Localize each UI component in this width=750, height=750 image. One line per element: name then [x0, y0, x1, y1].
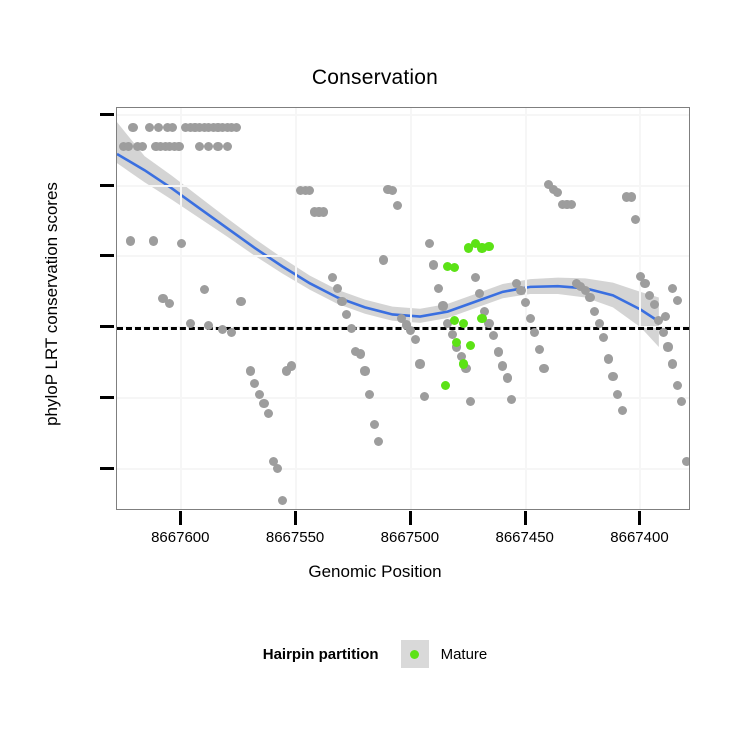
scatter-point — [126, 236, 135, 245]
loess-smooth-layer — [117, 108, 690, 510]
x-tick-label: 8667500 — [355, 529, 465, 546]
scatter-point — [585, 293, 594, 302]
scatter-point — [516, 286, 525, 295]
scatter-point — [618, 406, 627, 415]
scatter-point — [640, 279, 649, 288]
scatter-point — [393, 201, 402, 210]
scatter-point — [195, 142, 204, 151]
scatter-point — [236, 297, 245, 306]
y-tick-mark — [100, 325, 114, 328]
y-axis-label: phyloP LRT conservation scores — [42, 134, 62, 474]
scatter-point — [246, 366, 255, 375]
scatter-point — [213, 142, 222, 151]
gridline-vertical — [180, 108, 182, 509]
scatter-point — [450, 316, 459, 325]
scatter-point — [539, 364, 548, 373]
scatter-point — [459, 359, 468, 368]
scatter-point — [650, 300, 659, 309]
scatter-point — [484, 242, 493, 251]
scatter-point — [608, 372, 617, 381]
scatter-point — [255, 390, 264, 399]
plot-panel — [116, 107, 690, 510]
legend-key-mature[interactable] — [401, 640, 429, 668]
green-dot-icon — [410, 650, 419, 659]
gridline-vertical — [295, 108, 297, 509]
gridline-horizontal — [117, 397, 689, 399]
scatter-point — [200, 285, 209, 294]
scatter-point — [319, 207, 328, 216]
scatter-point — [477, 314, 486, 323]
x-tick-label: 8667400 — [584, 529, 694, 546]
gridline-horizontal — [117, 185, 689, 187]
scatter-point — [604, 354, 613, 363]
scatter-point — [264, 409, 273, 418]
y-tick-mark — [100, 254, 114, 257]
scatter-point — [337, 297, 346, 306]
conservation-plot: Conservation phyloP LRT conservation sco… — [0, 0, 750, 750]
legend: Hairpin partition Mature — [0, 640, 750, 668]
scatter-point — [438, 301, 447, 310]
y-tick-mark — [100, 184, 114, 187]
x-tick-label: 8667550 — [240, 529, 350, 546]
scatter-point — [174, 142, 183, 151]
y-tick-mark — [100, 396, 114, 399]
gridline-vertical — [410, 108, 412, 509]
legend-label-mature: Mature — [441, 646, 488, 663]
scatter-point — [498, 361, 507, 370]
scatter-point — [673, 296, 682, 305]
x-tick-mark — [409, 511, 412, 525]
scatter-point — [441, 381, 450, 390]
scatter-point — [494, 347, 503, 356]
scatter-point — [128, 123, 137, 132]
x-tick-label: 8667450 — [470, 529, 580, 546]
x-tick-mark — [524, 511, 527, 525]
scatter-point — [503, 373, 512, 382]
scatter-point — [145, 123, 154, 132]
scatter-point — [466, 397, 475, 406]
scatter-point — [595, 319, 604, 328]
scatter-point — [360, 366, 369, 375]
scatter-point — [138, 142, 147, 151]
gridline-vertical — [525, 108, 527, 509]
y-tick-mark — [100, 467, 114, 470]
scatter-point — [259, 399, 268, 408]
gridline-horizontal — [117, 114, 689, 116]
x-tick-mark — [294, 511, 297, 525]
scatter-point — [526, 314, 535, 323]
scatter-point — [379, 255, 388, 264]
scatter-point — [333, 284, 342, 293]
scatter-point — [471, 273, 480, 282]
x-tick-mark — [179, 511, 182, 525]
scatter-point — [149, 236, 158, 245]
gridline-vertical — [639, 108, 641, 509]
scatter-point — [124, 142, 133, 151]
x-axis-label: Genomic Position — [0, 562, 750, 582]
scatter-point — [668, 359, 677, 368]
scatter-point — [415, 359, 424, 368]
scatter-point — [567, 200, 576, 209]
legend-title: Hairpin partition — [263, 646, 379, 663]
y-tick-mark — [100, 113, 114, 116]
scatter-point — [347, 324, 356, 333]
scatter-point — [278, 496, 287, 505]
scatter-point — [287, 361, 296, 370]
scatter-point — [365, 390, 374, 399]
gridline-horizontal — [117, 468, 689, 470]
gridline-horizontal — [117, 255, 689, 257]
scatter-point — [673, 381, 682, 390]
x-tick-mark — [638, 511, 641, 525]
page-title: Conservation — [0, 66, 750, 90]
scatter-point — [356, 349, 365, 358]
scatter-point — [627, 192, 636, 201]
scatter-point — [663, 342, 672, 351]
scatter-point — [218, 325, 227, 334]
scatter-point — [429, 260, 438, 269]
scatter-point — [165, 299, 174, 308]
scatter-point — [682, 457, 690, 466]
scatter-point — [434, 284, 443, 293]
scatter-point — [370, 420, 379, 429]
scatter-point — [613, 390, 622, 399]
scatter-point — [223, 142, 232, 151]
scatter-point — [668, 284, 677, 293]
x-tick-label: 8667600 — [125, 529, 235, 546]
scatter-point — [168, 123, 177, 132]
